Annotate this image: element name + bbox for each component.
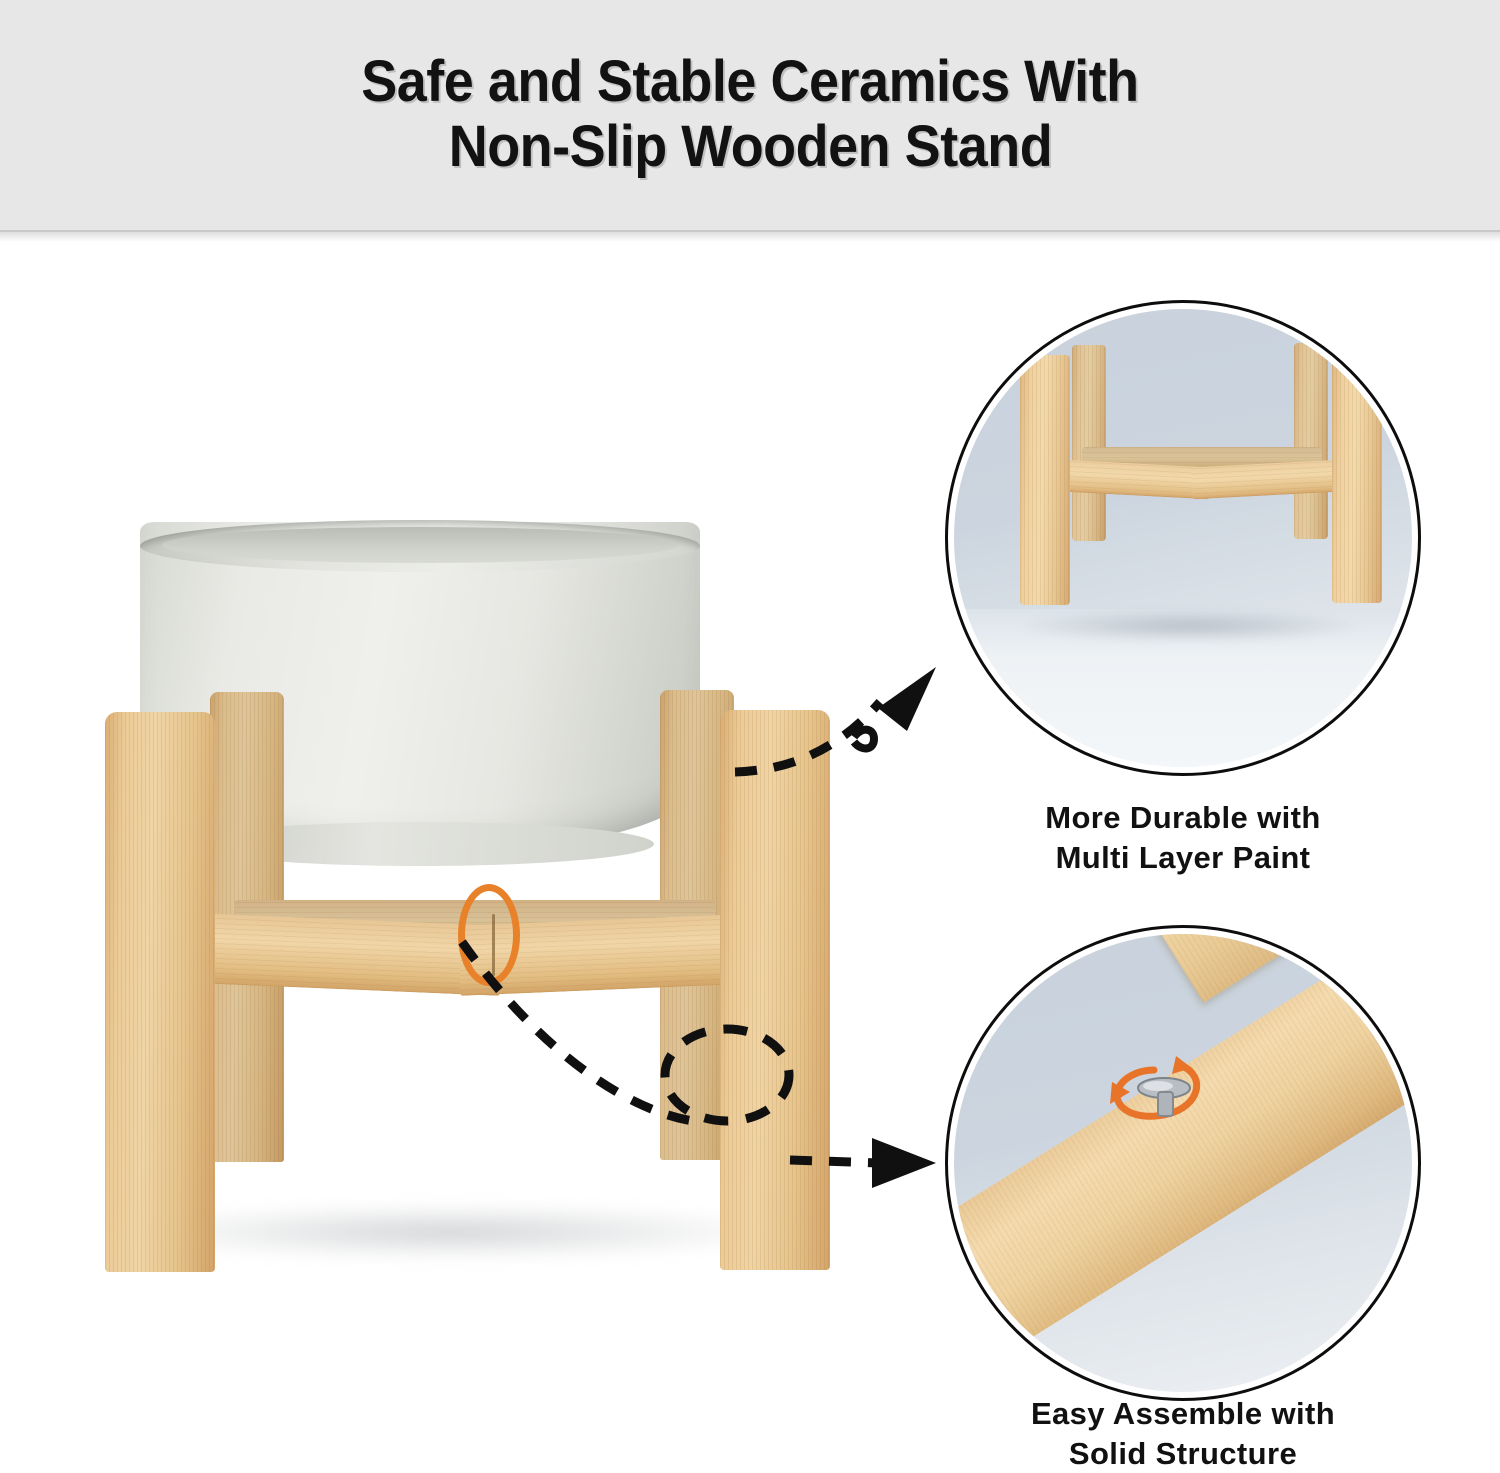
screw-shaft-icon xyxy=(1158,1092,1173,1116)
stand-leg-front-left xyxy=(105,712,215,1272)
caption-durable-paint-line1: More Durable with xyxy=(945,798,1421,838)
caption-durable-paint-line2: Multi Layer Paint xyxy=(945,838,1421,878)
stand-leg-front-right xyxy=(720,710,830,1270)
callout-curl-top xyxy=(854,730,874,749)
pot-rim xyxy=(140,520,700,572)
stand-beam-front-left xyxy=(170,912,500,996)
caption-easy-assemble-line1: Easy Assemble with xyxy=(945,1394,1421,1434)
caption-easy-assemble-line2: Solid Structure xyxy=(945,1434,1421,1473)
inset-circle-durable-paint xyxy=(945,300,1421,776)
header-banner: Safe and Stable Ceramics With Non-Slip W… xyxy=(0,0,1500,232)
inset-leg-back-left xyxy=(1072,345,1106,541)
inset-circle-easy-assemble xyxy=(945,925,1421,1401)
inset-leg-front-right xyxy=(1332,353,1382,603)
hero-product-image xyxy=(60,512,850,1272)
inset-photo-screw-joint xyxy=(954,934,1412,1392)
inset-leg-front-left xyxy=(1020,355,1070,605)
callout-arrowhead-bottom xyxy=(872,1138,936,1188)
pot-interior xyxy=(162,527,678,563)
center-joint-highlight-ellipse xyxy=(458,884,520,986)
screw-head-highlight xyxy=(1143,1081,1173,1091)
headline-line-1: Safe and Stable Ceramics With xyxy=(361,50,1138,115)
inset-leg-back-right xyxy=(1294,343,1328,539)
caption-easy-assemble: Easy Assemble with Solid Structure xyxy=(945,1394,1421,1473)
inset-photo-bamboo-stand xyxy=(954,309,1412,767)
caption-durable-paint: More Durable with Multi Layer Paint xyxy=(945,798,1421,877)
headline-line-2: Non-Slip Wooden Stand xyxy=(448,115,1051,180)
inset-stand-shadow xyxy=(1014,609,1364,643)
screw-rotation-indicator xyxy=(1096,1042,1226,1152)
callout-arrowhead-top xyxy=(878,667,936,731)
product-stage: More Durable with Multi Layer Paint Easy… xyxy=(0,242,1500,1464)
